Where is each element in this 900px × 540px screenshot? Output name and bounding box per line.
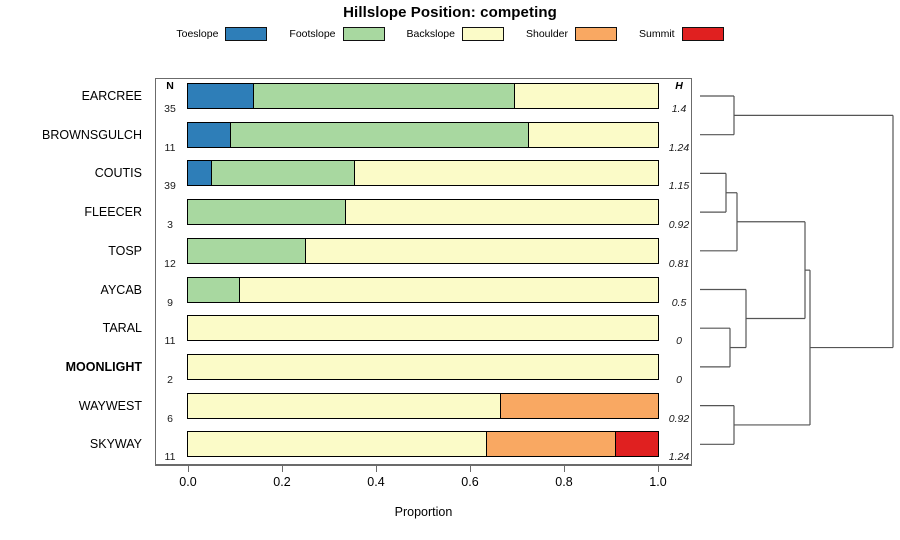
bar-segment-backslope[interactable]: [305, 238, 659, 264]
x-axis-tick: [564, 465, 565, 472]
bar-segment-backslope[interactable]: [354, 160, 659, 186]
bar-row-waywest[interactable]: [188, 393, 658, 419]
x-axis-title: Proportion: [155, 505, 692, 519]
x-axis-tick-label: 0.2: [262, 475, 302, 489]
bar-segment-backslope[interactable]: [345, 199, 659, 225]
bar-row-skyway[interactable]: [188, 431, 658, 457]
bar-segment-backslope[interactable]: [187, 354, 658, 380]
bar-segment-backslope[interactable]: [528, 122, 659, 148]
x-axis-tick: [376, 465, 377, 472]
bar-segment-backslope[interactable]: [187, 393, 501, 419]
chart-root: Hillslope Position: competing ToeslopeFo…: [0, 0, 900, 540]
x-axis-tick: [470, 465, 471, 472]
bar-row-fleecer[interactable]: [188, 199, 658, 225]
x-axis-tick-label: 0.8: [544, 475, 584, 489]
bar-segment-backslope[interactable]: [239, 277, 659, 303]
x-axis-tick: [188, 465, 189, 472]
bar-row-aycab[interactable]: [188, 277, 658, 303]
bar-segment-footslope[interactable]: [187, 238, 306, 264]
bar-segment-shoulder[interactable]: [500, 393, 659, 419]
bar-segment-toeslope[interactable]: [187, 83, 254, 109]
bar-segment-footslope[interactable]: [187, 199, 346, 225]
x-axis-tick: [282, 465, 283, 472]
bar-segment-footslope[interactable]: [253, 83, 515, 109]
bar-segment-summit[interactable]: [615, 431, 659, 457]
x-axis-line: [155, 465, 692, 466]
dendrogram-svg: [692, 78, 900, 465]
bar-segment-shoulder[interactable]: [486, 431, 617, 457]
bar-row-earcree[interactable]: [188, 83, 658, 109]
bar-segment-backslope[interactable]: [187, 431, 487, 457]
bar-segment-backslope[interactable]: [514, 83, 659, 109]
x-axis-tick-label: 1.0: [638, 475, 678, 489]
bar-row-taral[interactable]: [188, 315, 658, 341]
x-axis-tick-label: 0.0: [168, 475, 208, 489]
x-axis: 0.00.20.40.60.81.0: [155, 465, 692, 466]
x-axis-tick-label: 0.4: [356, 475, 396, 489]
x-axis-tick-label: 0.6: [450, 475, 490, 489]
bar-segment-footslope[interactable]: [230, 122, 530, 148]
bar-segment-footslope[interactable]: [187, 277, 240, 303]
dendrogram: [692, 78, 900, 465]
bar-row-coutis[interactable]: [188, 160, 658, 186]
bar-segment-toeslope[interactable]: [187, 122, 231, 148]
bar-row-brownsgulch[interactable]: [188, 122, 658, 148]
bar-row-moonlight[interactable]: [188, 354, 658, 380]
bar-segment-backslope[interactable]: [187, 315, 658, 341]
x-axis-tick: [658, 465, 659, 472]
bar-segment-footslope[interactable]: [211, 160, 356, 186]
bar-row-tosp[interactable]: [188, 238, 658, 264]
bar-segment-toeslope[interactable]: [187, 160, 212, 186]
